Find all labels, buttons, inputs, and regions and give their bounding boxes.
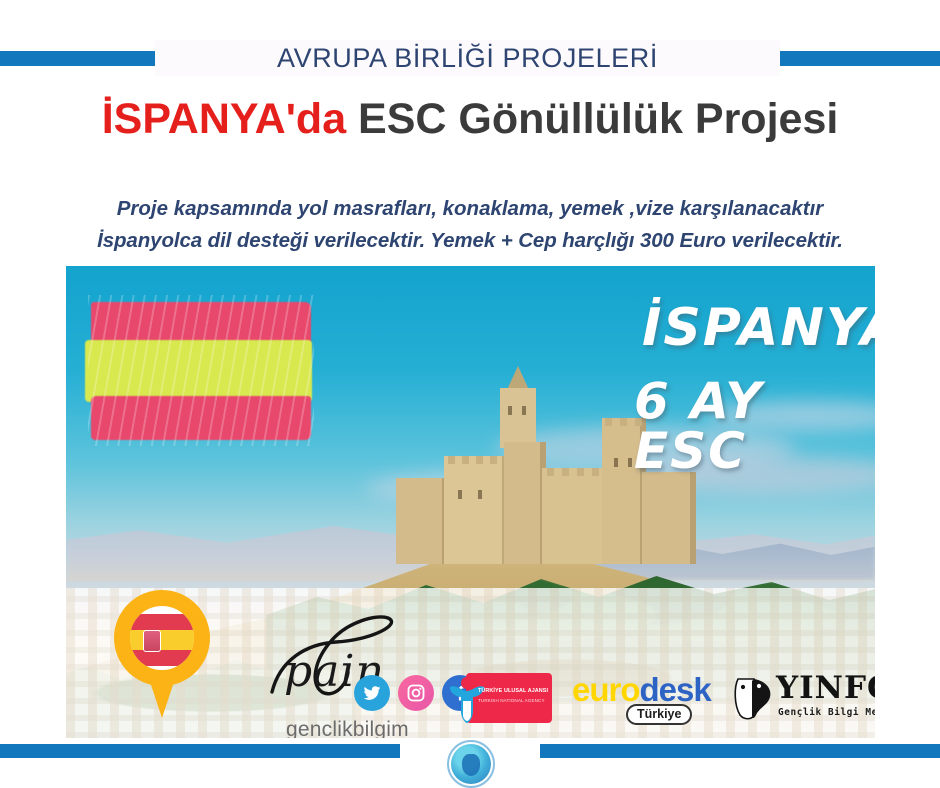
pin-flag-red-bottom — [130, 650, 194, 666]
photo-overlay-line-2: 6 AY ESC — [634, 376, 875, 476]
header-rule-right — [780, 51, 940, 66]
yinfo-tagline: Gençlik Bilgi Merkezi — [778, 707, 875, 718]
spain-flag-brush — [91, 298, 311, 443]
castle-merlon — [476, 456, 483, 464]
castle-merlon — [620, 418, 627, 426]
page-title-rest: ESC Gönüllülük Projesi — [346, 95, 838, 143]
instagram-camera-glyph — [406, 683, 426, 703]
flag-stripe-yellow — [85, 340, 312, 402]
subtitle: Proje kapsamında yol masrafları, konakla… — [0, 193, 940, 257]
instagram-icon[interactable] — [398, 675, 434, 711]
castle-merlon — [462, 456, 469, 464]
yinfo-bird-icon — [732, 675, 776, 721]
castle-window — [458, 490, 462, 499]
footer-rule-right — [540, 744, 940, 758]
castle-merlon — [547, 468, 554, 476]
castle-block — [542, 468, 608, 564]
castle-tower — [500, 388, 536, 448]
castle-block — [504, 442, 546, 564]
spain-coat-of-arms — [143, 630, 161, 652]
pin-flag-yellow — [130, 630, 194, 650]
footer-rule-left — [0, 744, 400, 758]
yinfo-logo: YINFO Gençlik Bilgi Merkezi — [732, 669, 875, 727]
flag-stripe-red-bottom — [91, 396, 311, 440]
eurodesk-wordmark: eurodesk — [572, 673, 720, 706]
subtitle-line-2: İspanyolca dil desteği verilecektir. Yem… — [0, 225, 940, 257]
eurodesk-country-badge: Türkiye — [626, 704, 692, 725]
header-band: AVRUPA BİRLİĞİ PROJELERİ — [0, 40, 940, 76]
page-title-highlight: İSPANYA'da — [102, 95, 346, 143]
subtitle-line-1: Proje kapsamında yol masrafları, konakla… — [117, 197, 824, 220]
castle-merlon — [577, 468, 584, 476]
header-rule-left — [0, 51, 155, 66]
globe-emblem-logo — [443, 740, 499, 788]
castle-window — [522, 406, 526, 415]
partner-logos-group: TÜRKİYE ULUSAL AJANSI TURKISH NATIONAL A… — [444, 669, 874, 731]
poster-canvas: AVRUPA BİRLİĞİ PROJELERİ İSPANYA'da ESC … — [0, 0, 940, 788]
castle-merlon — [448, 456, 455, 464]
castle-merlon — [490, 456, 497, 464]
turkish-national-agency-logo: TÜRKİYE ULUSAL AJANSI TURKISH NATIONAL A… — [444, 671, 552, 725]
eurodesk-word-desk: desk — [640, 671, 711, 708]
castle-window — [614, 458, 618, 467]
page-title: İSPANYA'da ESC Gönüllülük Projesi — [0, 96, 940, 143]
castle-block — [444, 456, 508, 564]
castle-merlon — [592, 468, 599, 476]
photo-overlay-line-1: İSPANYA — [642, 302, 875, 354]
national-agency-line-2: TURKISH NATIONAL AGENCY — [478, 698, 550, 703]
twitter-icon[interactable] — [354, 675, 390, 711]
castle-window — [508, 406, 512, 415]
castle-merlon — [562, 468, 569, 476]
map-pin-flag — [130, 606, 194, 670]
castle-window — [628, 458, 632, 467]
castle-block — [396, 478, 448, 564]
eurodesk-logo: eurodesk Türkiye — [572, 673, 720, 725]
pin-flag-red-top — [130, 614, 194, 630]
yinfo-wordmark: YINFO — [776, 673, 875, 704]
twitter-bird-glyph — [362, 683, 382, 703]
eurodesk-word-euro: euro — [572, 671, 640, 708]
hero-photo: İSPANYA 6 AY ESC pain — [66, 266, 875, 738]
castle-merlon — [605, 418, 612, 426]
emblem-figure — [462, 754, 480, 776]
castle-window — [478, 490, 482, 499]
national-agency-line-1: TÜRKİYE ULUSAL AJANSI — [478, 688, 550, 694]
spain-map-pin — [114, 590, 210, 720]
header-title: AVRUPA BİRLİĞİ PROJELERİ — [277, 45, 658, 72]
castle-block — [642, 472, 696, 564]
header-title-container: AVRUPA BİRLİĞİ PROJELERİ — [155, 40, 780, 76]
